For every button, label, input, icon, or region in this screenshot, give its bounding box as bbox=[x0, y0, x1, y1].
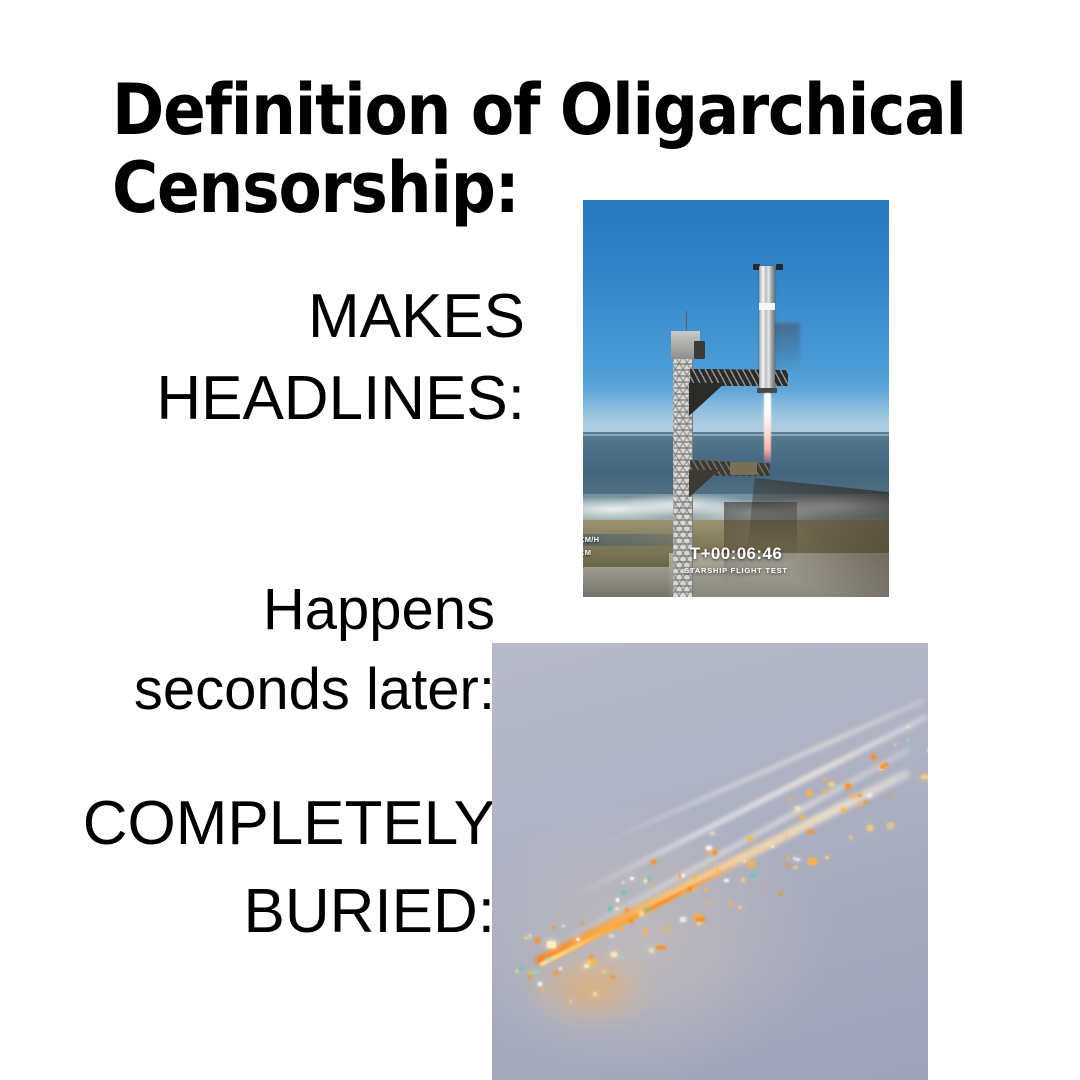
debris-spark bbox=[793, 866, 798, 870]
debris-spark bbox=[648, 877, 650, 882]
debris-spark bbox=[639, 911, 644, 915]
debris-spark bbox=[625, 908, 629, 912]
debris-spark bbox=[706, 846, 711, 850]
hud-mission-overlay: T+00:06:46 STARSHIP FLIGHT TEST bbox=[583, 544, 889, 575]
debris-spark bbox=[751, 873, 756, 876]
super-heavy-booster bbox=[759, 266, 776, 391]
debris-spark bbox=[738, 906, 741, 910]
caption-happens-seconds-later: Happens seconds later: bbox=[40, 570, 495, 730]
debris-spark bbox=[679, 873, 681, 877]
photo-starship-booster-landing: KM/H KM T+00:06:46 STARSHIP FLIGHT TEST bbox=[583, 200, 889, 597]
photo-starship-debris-reentry bbox=[492, 643, 928, 1080]
debris-spark bbox=[688, 887, 693, 891]
debris-spark bbox=[771, 845, 774, 848]
debris-spark bbox=[538, 982, 542, 986]
booster-white-band bbox=[759, 303, 776, 310]
debris-spark bbox=[748, 836, 752, 842]
debris-spark bbox=[581, 921, 583, 924]
debris-spark bbox=[795, 806, 800, 810]
debris-spark bbox=[921, 775, 928, 779]
debris-spark bbox=[841, 808, 846, 812]
meme-canvas: Definition of Oligarchical Censorship: M… bbox=[0, 0, 1080, 1080]
debris-spark bbox=[708, 900, 711, 904]
debris-spark bbox=[644, 908, 649, 910]
debris-spark bbox=[562, 925, 565, 927]
debris-spark bbox=[547, 958, 551, 961]
caption-completely-buried: COMPLETELY BURIED: bbox=[10, 780, 495, 956]
engine-plume bbox=[764, 393, 771, 464]
debris-spark bbox=[535, 938, 539, 943]
debris-spark bbox=[858, 794, 862, 797]
debris-spark bbox=[713, 851, 717, 854]
debris-spark bbox=[887, 823, 894, 829]
debris-spark bbox=[622, 957, 625, 959]
debris-spark bbox=[643, 930, 648, 933]
debris-spark bbox=[615, 907, 619, 910]
debris-spark bbox=[856, 793, 858, 796]
debris-spark bbox=[907, 737, 910, 741]
debris-spark bbox=[710, 832, 715, 834]
debris-spark bbox=[823, 790, 827, 793]
debris-spark bbox=[829, 782, 834, 787]
debris-spark bbox=[608, 907, 611, 910]
debris-spark bbox=[849, 836, 852, 839]
debris-spark bbox=[905, 726, 910, 729]
debris-spark bbox=[680, 917, 685, 921]
debris-spark bbox=[651, 860, 656, 864]
debris-spark bbox=[656, 946, 666, 949]
grid-fin-right bbox=[776, 264, 783, 270]
debris-spark bbox=[649, 948, 653, 953]
debris-spark bbox=[519, 967, 523, 970]
debris-spark bbox=[724, 879, 729, 882]
hud-mission-timer: T+00:06:46 bbox=[583, 544, 889, 564]
debris-spark bbox=[590, 955, 593, 958]
debris-spark bbox=[524, 937, 528, 940]
debris-spark bbox=[867, 794, 872, 797]
debris-spark bbox=[589, 959, 596, 964]
debris-spark bbox=[644, 879, 647, 883]
debris-spark bbox=[554, 971, 558, 975]
debris-spark bbox=[747, 861, 754, 868]
debris-spark bbox=[576, 938, 580, 941]
debris-spark bbox=[807, 791, 812, 796]
debris-spark bbox=[587, 961, 589, 964]
debris-spark bbox=[697, 922, 700, 925]
caption-makes-headlines: MAKES HEADLINES: bbox=[60, 276, 525, 440]
debris-spark bbox=[858, 803, 861, 806]
debris-spark bbox=[569, 999, 572, 1003]
debris-spark bbox=[547, 941, 556, 948]
debris-spark bbox=[867, 825, 872, 831]
debris-spark bbox=[808, 858, 818, 865]
debris-spark bbox=[665, 926, 668, 931]
debris-spark bbox=[796, 858, 799, 862]
debris-spark bbox=[616, 898, 619, 902]
debris-spark bbox=[743, 860, 746, 863]
debris-spark bbox=[528, 971, 531, 975]
hud-mission-label: STARSHIP FLIGHT TEST bbox=[583, 566, 889, 575]
debris-spark bbox=[593, 992, 596, 996]
debris-spark bbox=[799, 815, 803, 819]
debris-spark bbox=[611, 952, 616, 956]
debris-spark bbox=[889, 793, 893, 796]
debris-spark bbox=[630, 877, 635, 880]
tower-sensor-box bbox=[694, 341, 705, 359]
quick-disconnect-arm bbox=[730, 462, 758, 475]
debris-spark bbox=[609, 935, 614, 937]
debris-spark bbox=[850, 795, 855, 798]
debris-spark bbox=[695, 918, 705, 921]
debris-spark bbox=[846, 784, 850, 789]
debris-spark bbox=[788, 798, 792, 800]
debris-spark bbox=[741, 878, 745, 881]
debris-spark bbox=[716, 869, 719, 874]
debris-spark bbox=[786, 865, 791, 867]
debris-spark bbox=[529, 934, 531, 938]
debris-spark bbox=[927, 749, 928, 752]
